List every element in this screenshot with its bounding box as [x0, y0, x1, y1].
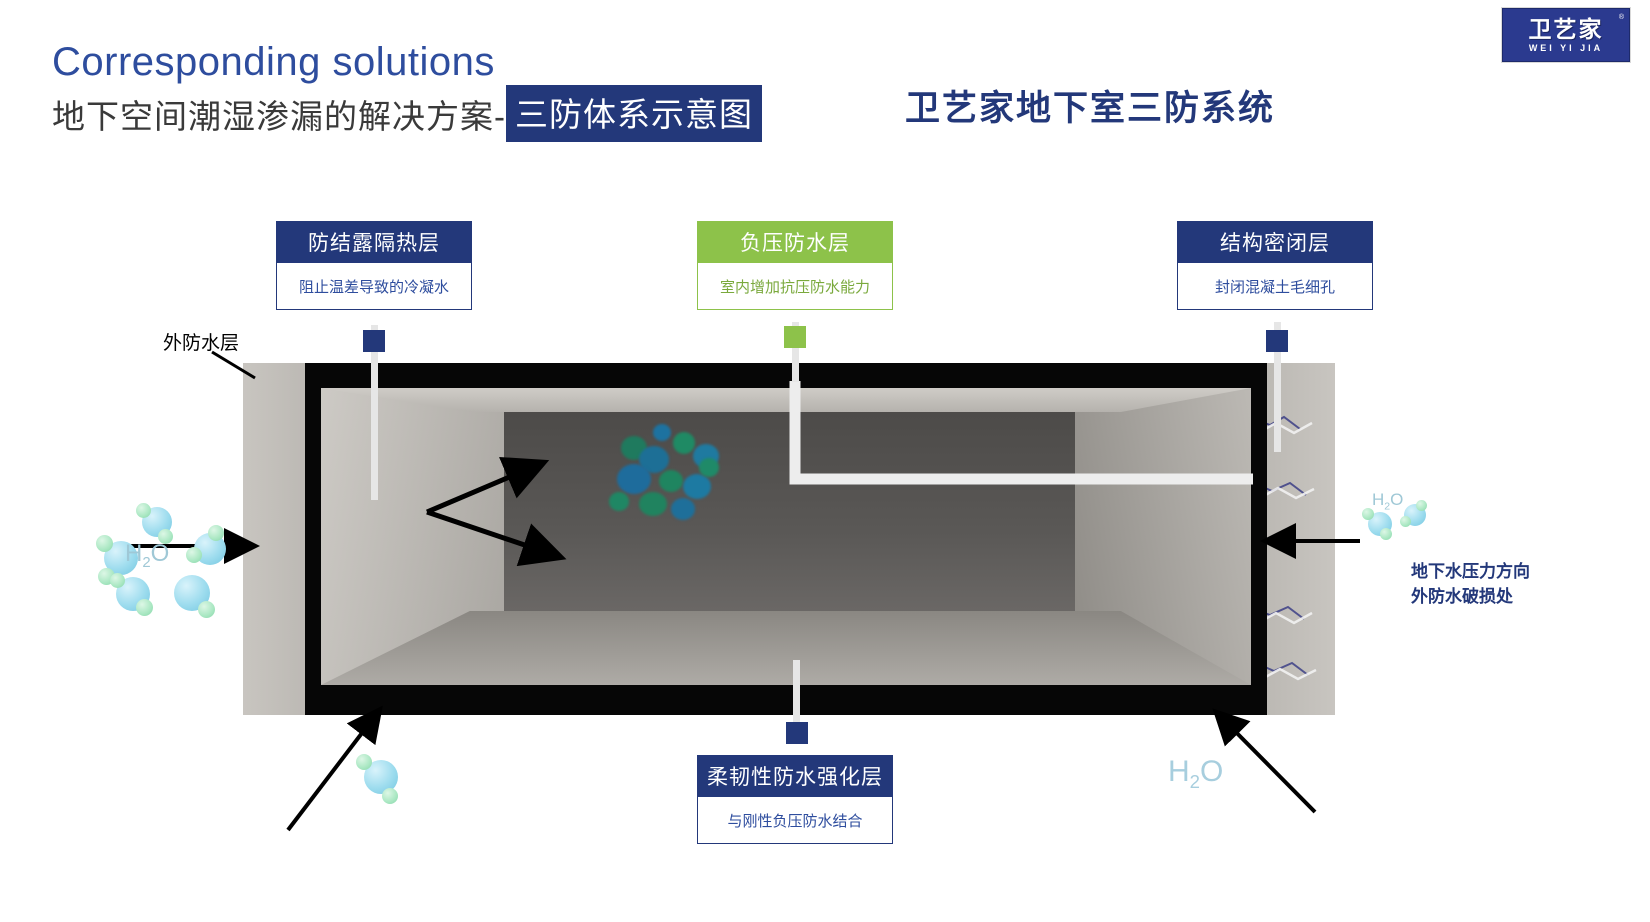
callout-card-anti-condensation[interactable]: 防结露隔热层 阻止温差导致的冷凝水 [276, 221, 472, 310]
page-subtitle-highlight: 三防体系示意图 [506, 85, 762, 142]
page-subtitle: 地下空间潮湿渗漏的解决方案- 三防体系示意图 [52, 85, 762, 142]
card-title: 结构密闭层 [1177, 221, 1373, 263]
water-molecules-right [1356, 494, 1456, 564]
card-knob-flexible-waterproof [786, 722, 808, 744]
card-description: 阻止温差导致的冷凝水 [276, 263, 472, 310]
h2o-label-left: H2O [125, 540, 169, 571]
water-molecules-bottom [352, 748, 432, 818]
interior-back-wall [503, 406, 1076, 615]
annotation-groundwater-pressure: 地下水压力方向 [1411, 560, 1530, 585]
h2o-label-bottom: H2O [1168, 755, 1223, 793]
page-subtitle-plain: 地下空间潮湿渗漏的解决方案- [52, 90, 506, 138]
card-description: 封闭混凝土毛细孔 [1177, 263, 1373, 310]
card-knob-anti-condensation [363, 330, 385, 352]
callout-card-flexible-waterproof[interactable]: 柔韧性防水强化层 与刚性负压防水结合 [697, 755, 893, 844]
h2o-label-right: H2O [1372, 490, 1403, 512]
card-description: 室内增加抗压防水能力 [697, 263, 893, 310]
annotation-outer-waterproof: 外防水层 [163, 328, 239, 355]
callout-card-negative-pressure[interactable]: 负压防水层 室内增加抗压防水能力 [697, 221, 893, 310]
annotation-groundwater: 地下水压力方向 外防水破损处 [1411, 560, 1530, 609]
annotation-outer-waterproof-damage: 外防水破损处 [1411, 585, 1530, 610]
system-title: 卫艺家地下室三防系统 [905, 80, 1275, 131]
brand-logo: ® 卫艺家 WEI YI JIA [1502, 8, 1630, 62]
card-title: 负压防水层 [697, 221, 893, 263]
card-description: 与刚性负压防水结合 [697, 797, 893, 844]
page-title-english: Corresponding solutions [52, 40, 495, 85]
registered-trademark-icon: ® [1619, 14, 1624, 21]
card-title: 柔韧性防水强化层 [697, 755, 893, 797]
card-stem-flexible-waterproof [793, 660, 800, 730]
callout-card-structural-sealing[interactable]: 结构密闭层 封闭混凝土毛细孔 [1177, 221, 1373, 310]
basement-cross-section-illustration [243, 363, 1335, 715]
brand-logo-chinese: 卫艺家 [1529, 18, 1604, 41]
brand-logo-pinyin: WEI YI JIA [1529, 44, 1603, 53]
basement-interior [321, 388, 1251, 685]
interior-floor [321, 611, 1251, 685]
interior-ceiling [321, 388, 1251, 412]
card-knob-negative-pressure [784, 326, 806, 348]
card-knob-structural-sealing [1266, 330, 1288, 352]
card-title: 防结露隔热层 [276, 221, 472, 263]
